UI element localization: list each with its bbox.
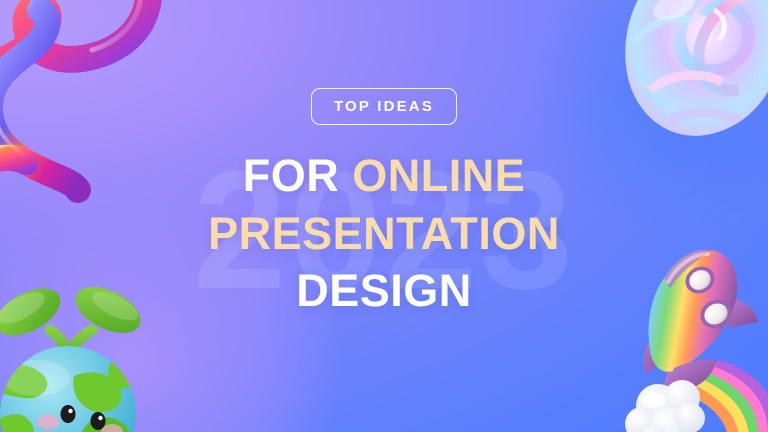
headline-word-presentation: PRESENTATION [208,205,560,263]
headline-word-for: FOR [243,150,353,201]
page-title: FOR ONLINE PRESENTATION DESIGN [208,147,560,320]
presentation-slide: 2023 [0,0,768,432]
earth-sprout-graphic [0,264,174,432]
top-ideas-badge[interactable]: TOP IDEAS [311,88,457,125]
headline-word-online: ONLINE [352,150,525,201]
headline-line-1: FOR ONLINE [208,147,560,205]
headline-word-design: DESIGN [208,262,560,320]
cloud-puff [625,380,705,432]
rainbow-rocket-graphic [624,248,768,432]
